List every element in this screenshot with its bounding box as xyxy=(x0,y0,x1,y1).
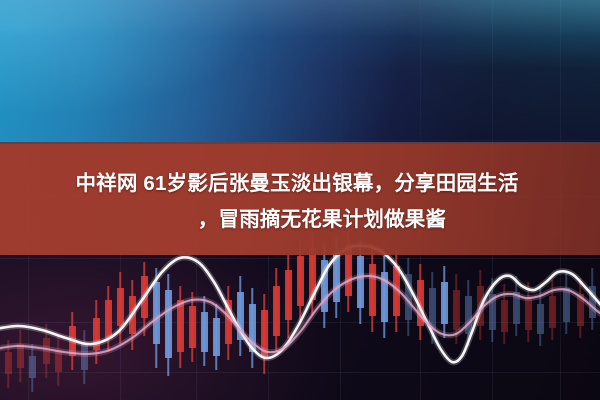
curve-curve-primary-white xyxy=(0,246,600,363)
banner-sheen xyxy=(0,0,600,142)
blue-gradient-banner xyxy=(0,0,600,142)
headline-line-2: ，冒雨摘无花果计划做果酱 xyxy=(198,202,446,232)
headline-line-1: 中祥网 61岁影后张曼玉淡出银幕，分享田园生活 xyxy=(75,166,518,196)
headline-text-block: 中祥网 61岁影后张曼玉淡出银幕，分享田园生活 ，冒雨摘无花果计划做果酱 xyxy=(0,142,600,255)
thumbnail-image: 中祥网 61岁影后张曼玉淡出银幕，分享田园生活 ，冒雨摘无花果计划做果酱 xyxy=(0,0,600,400)
